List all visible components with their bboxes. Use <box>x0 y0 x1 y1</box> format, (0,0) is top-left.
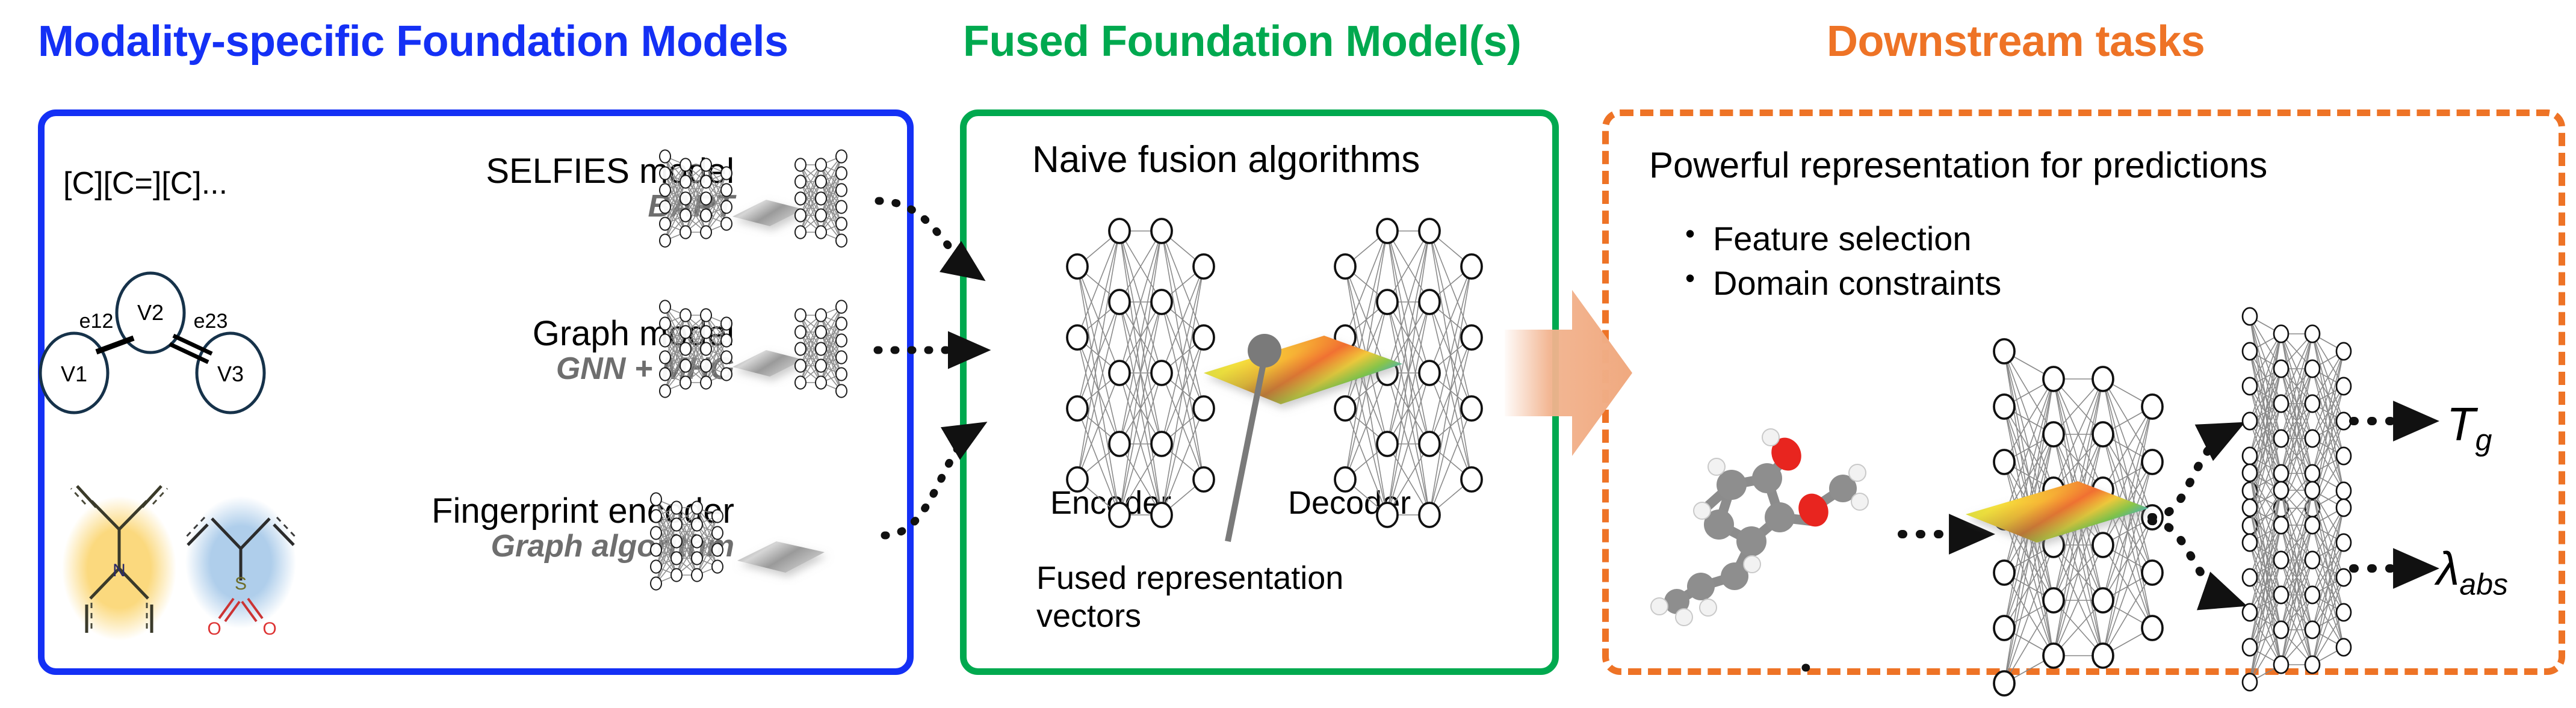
svg-text:S: S <box>235 574 247 594</box>
autoencoder-icon-graph <box>660 300 847 397</box>
dotted-arrow-branch-upper <box>2152 428 2233 517</box>
svg-text:O: O <box>207 619 221 639</box>
svg-text:O: O <box>262 619 276 639</box>
svg-text:V1: V1 <box>61 362 87 386</box>
fingerprint-fragment-nitrogen-icon: N <box>62 486 176 641</box>
downstream-network-lambda <box>2243 464 2351 691</box>
molecular-graph-icon: V1 V2 V3 e12 e23 <box>40 273 264 413</box>
dotted-arrow-selfies-to-fusion <box>879 201 975 274</box>
dotted-arrow-fingerprint-to-fusion <box>885 428 976 535</box>
encoder-network-icon <box>1067 219 1214 527</box>
svg-text:V2: V2 <box>137 300 164 325</box>
transition-block-arrow <box>1505 290 1632 456</box>
diagram-graphics: V1 V2 V3 e12 e23 N S <box>0 0 2576 708</box>
molecule-3d-icon <box>1651 429 1868 626</box>
downstream-network-tg <box>2243 308 2351 534</box>
dotted-arrow-branch-lower <box>2152 521 2234 602</box>
svg-text:e23: e23 <box>194 310 228 333</box>
autoencoder-icon-selfies <box>660 150 847 247</box>
svg-text:V3: V3 <box>217 362 244 386</box>
downstream-representation-plane <box>1966 481 2149 543</box>
fused-representation-heatmap <box>1204 336 1402 404</box>
fingerprint-fragment-sulfonyl-icon: S O O <box>184 496 297 639</box>
svg-text:e12: e12 <box>79 310 114 333</box>
encoder-icon-fingerprint <box>651 493 825 589</box>
svg-text:N: N <box>113 561 126 580</box>
